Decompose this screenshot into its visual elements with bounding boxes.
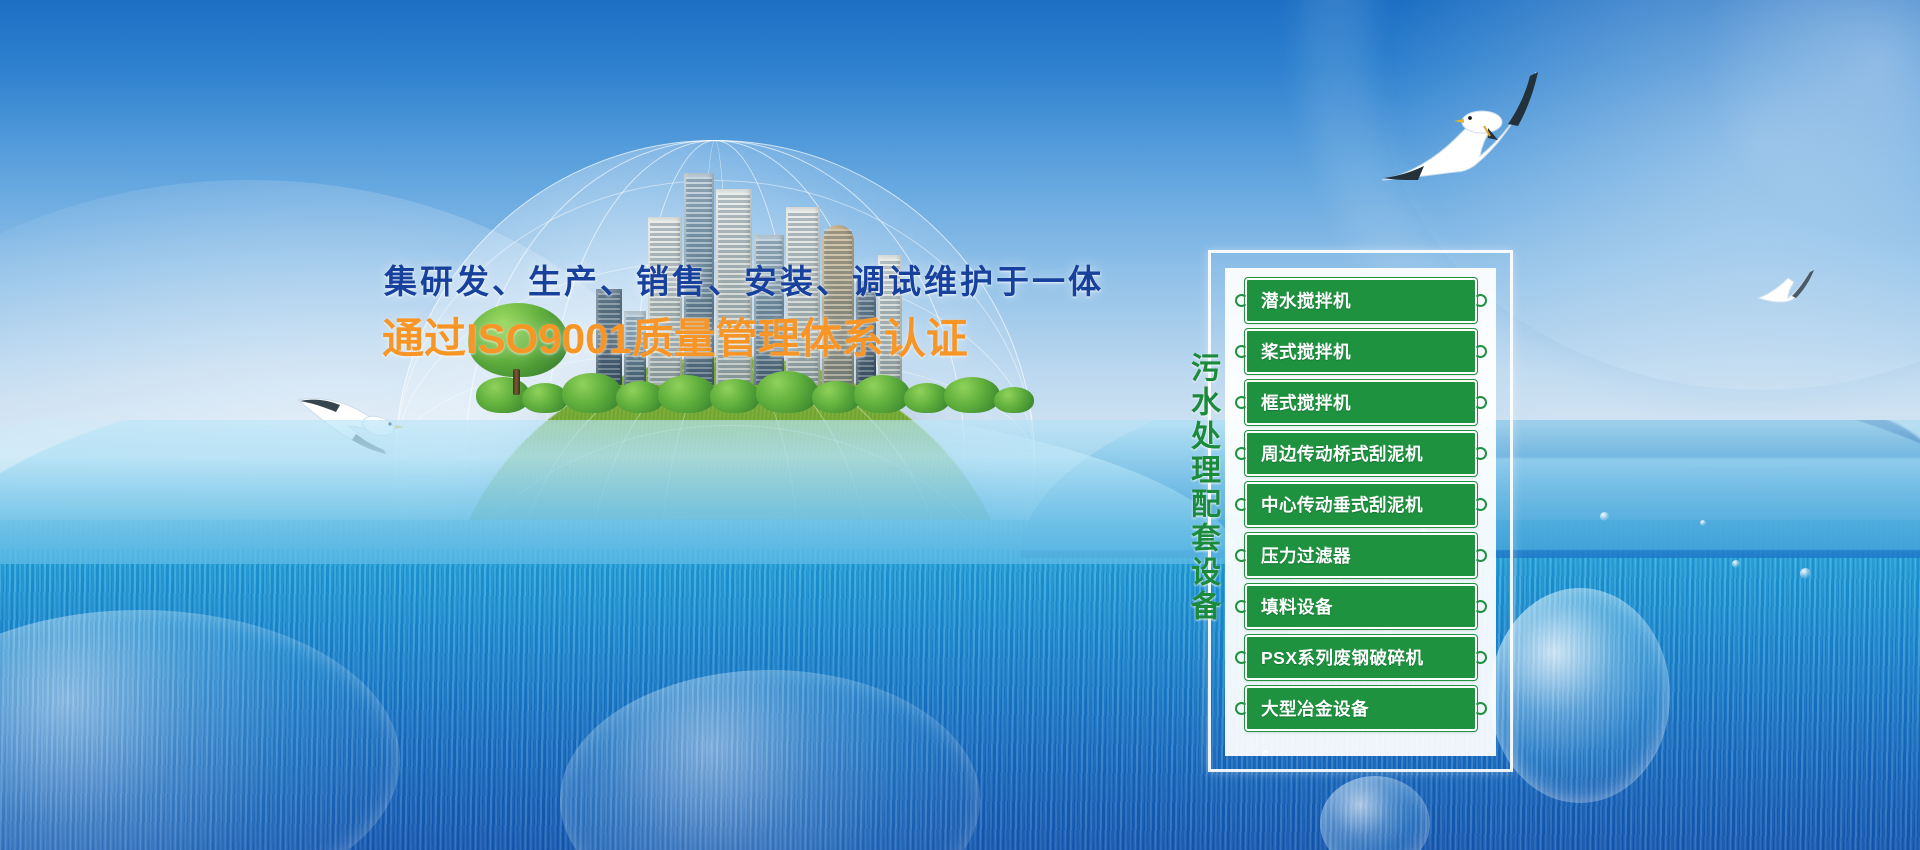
equipment-button-list: 潜水搅拌机 桨式搅拌机 框式搅拌机 周边传动桥式刮泥机 中心传动垂式刮泥机 压力… xyxy=(1236,278,1486,731)
equipment-item-4[interactable]: 中心传动垂式刮泥机 xyxy=(1245,482,1477,527)
seagull-large-right-icon xyxy=(1378,62,1548,192)
equipment-item-label: 周边传动桥式刮泥机 xyxy=(1247,441,1423,466)
connector-left-icon xyxy=(1235,447,1248,460)
equipment-item-5[interactable]: 压力过滤器 xyxy=(1245,533,1477,578)
banner-subline: 通过ISO9001质量管理体系认证 xyxy=(382,305,1202,366)
connector-left-icon xyxy=(1235,294,1248,307)
water-bubble-large xyxy=(1490,588,1670,803)
equipment-item-label: 压力过滤器 xyxy=(1247,543,1351,568)
connector-right-icon xyxy=(1474,294,1487,307)
connector-right-icon xyxy=(1474,549,1487,562)
equipment-item-label: 桨式搅拌机 xyxy=(1247,339,1351,364)
connector-left-icon xyxy=(1235,651,1248,664)
connector-right-icon xyxy=(1474,447,1487,460)
connector-right-icon xyxy=(1474,498,1487,511)
equipment-item-0[interactable]: 潜水搅拌机 xyxy=(1245,278,1477,323)
sky-glow-flare xyxy=(1700,0,1920,240)
connector-left-icon xyxy=(1235,498,1248,511)
water-artwork xyxy=(0,420,1920,850)
equipment-item-label: 框式搅拌机 xyxy=(1247,390,1351,415)
equipment-item-1[interactable]: 桨式搅拌机 xyxy=(1245,329,1477,374)
equipment-panel-vertical-label: 污水处理配套设备 xyxy=(1175,352,1217,624)
connector-left-icon xyxy=(1235,600,1248,613)
connector-right-icon xyxy=(1474,345,1487,358)
equipment-item-label: PSX系列废钢破碎机 xyxy=(1247,645,1424,670)
seagull-small-far-right-icon xyxy=(1756,268,1824,306)
connector-right-icon xyxy=(1474,651,1487,664)
equipment-item-3[interactable]: 周边传动桥式刮泥机 xyxy=(1245,431,1477,476)
connector-left-icon xyxy=(1235,549,1248,562)
connector-right-icon xyxy=(1474,396,1487,409)
connector-right-icon xyxy=(1474,702,1487,715)
connector-left-icon xyxy=(1235,702,1248,715)
equipment-item-6[interactable]: 填料设备 xyxy=(1245,584,1477,629)
equipment-item-7[interactable]: PSX系列废钢破碎机 xyxy=(1245,635,1477,680)
equipment-item-label: 中心传动垂式刮泥机 xyxy=(1247,492,1423,517)
connector-left-icon xyxy=(1235,345,1248,358)
connector-right-icon xyxy=(1474,600,1487,613)
equipment-item-label: 大型冶金设备 xyxy=(1247,696,1369,721)
equipment-item-label: 填料设备 xyxy=(1247,594,1333,619)
equipment-item-2[interactable]: 框式搅拌机 xyxy=(1245,380,1477,425)
equipment-item-label: 潜水搅拌机 xyxy=(1247,288,1351,313)
banner-headline: 集研发、生产、销售、安装、调试维护于一体 xyxy=(384,255,1184,303)
equipment-item-8[interactable]: 大型冶金设备 xyxy=(1245,686,1477,731)
connector-left-icon xyxy=(1235,396,1248,409)
promo-banner: 集研发、生产、销售、安装、调试维护于一体 通过ISO9001质量管理体系认证 污… xyxy=(0,0,1920,850)
